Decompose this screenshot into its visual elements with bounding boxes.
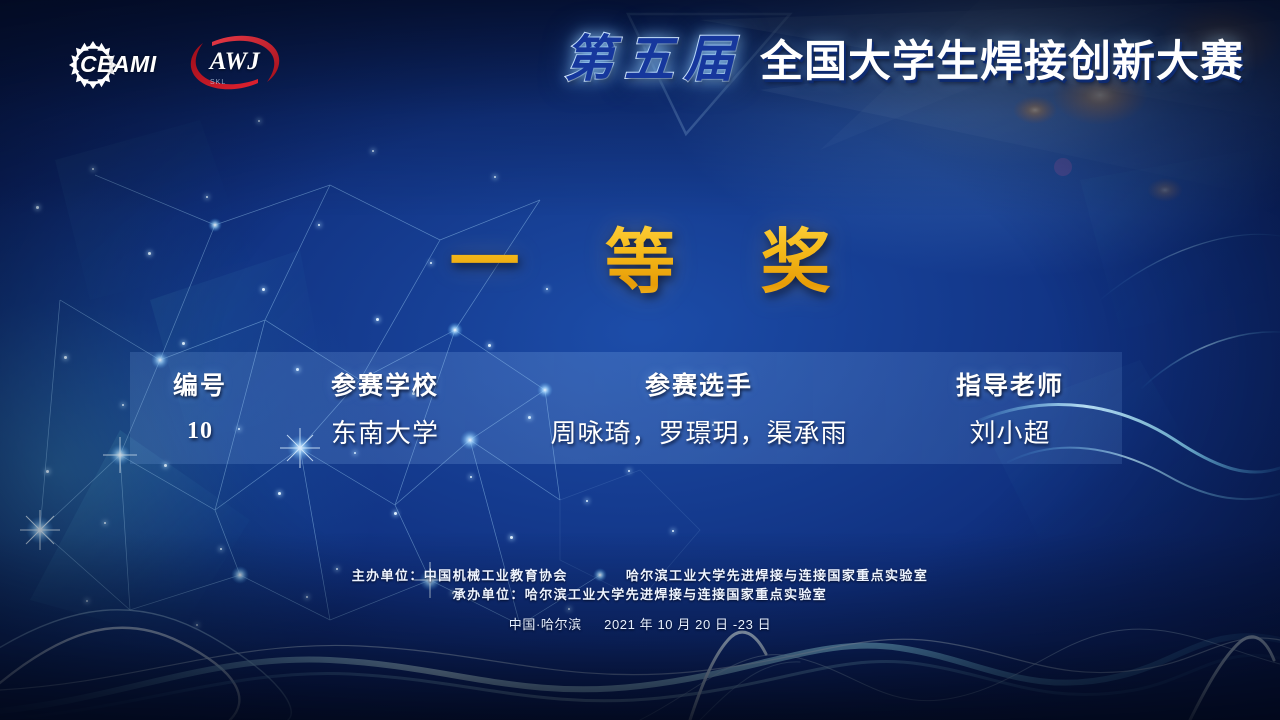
footer-venue-line: 中国·哈尔滨 2021 年 10 月 20 日 -23 日 (0, 614, 1280, 633)
results-table: 编号 参赛学校 参赛选手 指导老师 10 东南大学 周咏琦，罗璟玥，渠承雨 刘小… (130, 352, 1122, 464)
footer-organizer: 主办单位：中国机械工业教育协会 (352, 568, 568, 583)
cell-teacher: 刘小超 (898, 413, 1122, 450)
column-header-school: 参赛学校 (270, 366, 500, 402)
awj-logo: AWJ SKL (182, 33, 288, 97)
awj-logo-subtext: SKL (210, 79, 226, 86)
footer-organizer-line: 主办单位：中国机械工业教育协会 哈尔滨工业大学先进焊接与连接国家重点实验室 (0, 566, 1280, 585)
footer-organizer-extra: 哈尔滨工业大学先进焊接与连接国家重点实验室 (626, 568, 928, 583)
footer-dates: 2021 年 10 月 20 日 -23 日 (604, 617, 771, 632)
ceami-logo-text: CEAMI (80, 51, 157, 78)
column-header-players: 参赛选手 (500, 366, 898, 402)
table-header-row: 编号 参赛学校 参赛选手 指导老师 (130, 364, 1122, 404)
award-slide: CEAMI (0, 0, 1280, 720)
column-header-teacher: 指导老师 (898, 366, 1122, 402)
logo-group: CEAMI (64, 33, 288, 97)
table-row: 10 东南大学 周咏琦，罗璟玥，渠承雨 刘小超 (130, 410, 1122, 452)
event-edition: 第五届 (564, 34, 744, 84)
footer-location: 中国·哈尔滨 (509, 617, 582, 632)
prize-title: 一 等 奖 (0, 206, 1280, 307)
cell-id: 10 (130, 418, 270, 445)
ceami-logo: CEAMI (64, 34, 142, 96)
cell-school: 东南大学 (270, 413, 500, 450)
awj-logo-text: AWJ (204, 48, 266, 76)
event-title: 全国大学生焊接创新大赛 (760, 41, 1244, 84)
cell-players: 周咏琦，罗璟玥，渠承雨 (500, 413, 898, 450)
footer: 主办单位：中国机械工业教育协会 哈尔滨工业大学先进焊接与连接国家重点实验室 承办… (0, 566, 1280, 633)
column-header-id: 编号 (130, 366, 270, 402)
event-headline: 第五届 全国大学生焊接创新大赛 (564, 34, 1244, 84)
footer-host-line: 承办单位：哈尔滨工业大学先进焊接与连接国家重点实验室 (0, 585, 1280, 604)
